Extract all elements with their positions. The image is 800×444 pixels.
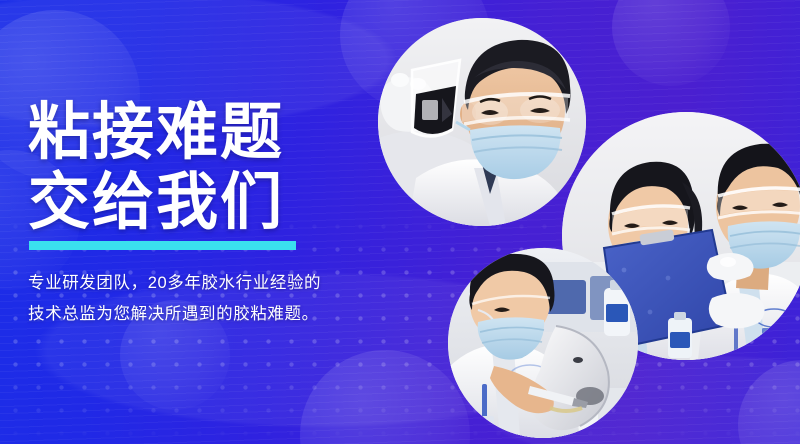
headline-line-2: 交给我们 <box>28 168 368 238</box>
bokeh-circle-icon <box>612 0 730 86</box>
headline-line-1: 粘接难题 <box>28 98 368 168</box>
subtitle-line-2: 技术总监为您解决所遇到的胶粘难题。 <box>28 299 368 330</box>
page-title: 粘接难题 交给我们 <box>28 98 368 238</box>
banner-subtitle: 专业研发团队，20多年胶水行业经验的 技术总监为您解决所遇到的胶粘难题。 <box>28 268 368 330</box>
promotional-banner: 粘接难题 交给我们 专业研发团队，20多年胶水行业经验的 技术总监为您解决所遇到… <box>0 0 800 444</box>
subtitle-line-1: 专业研发团队，20多年胶水行业经验的 <box>28 268 368 299</box>
banner-text-block: 粘接难题 交给我们 专业研发团队，20多年胶水行业经验的 技术总监为您解决所遇到… <box>28 98 368 330</box>
photo-technician-applying-adhesive <box>448 248 638 438</box>
photo-scientist-holding-beaker <box>378 18 586 226</box>
headline-underline-accent <box>29 241 296 250</box>
